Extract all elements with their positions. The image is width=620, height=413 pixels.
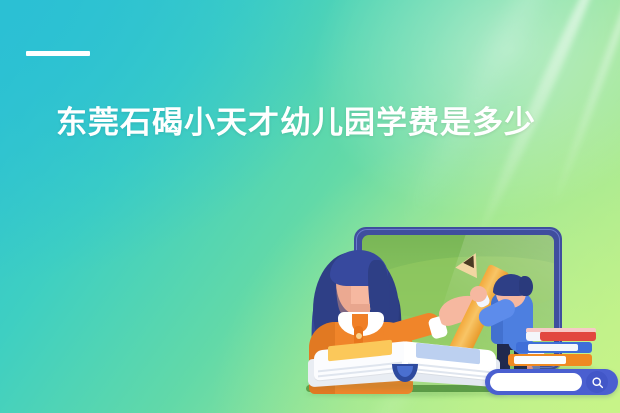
teacher-button-top: [356, 333, 362, 339]
education-illustration: [300, 200, 620, 413]
accent-rule: [26, 51, 90, 56]
student-hair-tuft: [519, 276, 533, 296]
student-hand: [470, 286, 487, 302]
book-top: [540, 331, 596, 341]
page-title: 东莞石碣小天才幼儿园学费是多少: [56, 103, 576, 143]
search-icon: [591, 376, 604, 389]
search-input[interactable]: [490, 373, 582, 391]
banner: 东莞石碣小天才幼儿园学费是多少: [0, 0, 620, 413]
background-streak-2: [551, 0, 620, 204]
book-middle-pages: [528, 344, 578, 351]
search-button[interactable]: [586, 371, 608, 393]
book-top-edge: [526, 328, 596, 332]
book-bottom-pages: [514, 356, 566, 364]
